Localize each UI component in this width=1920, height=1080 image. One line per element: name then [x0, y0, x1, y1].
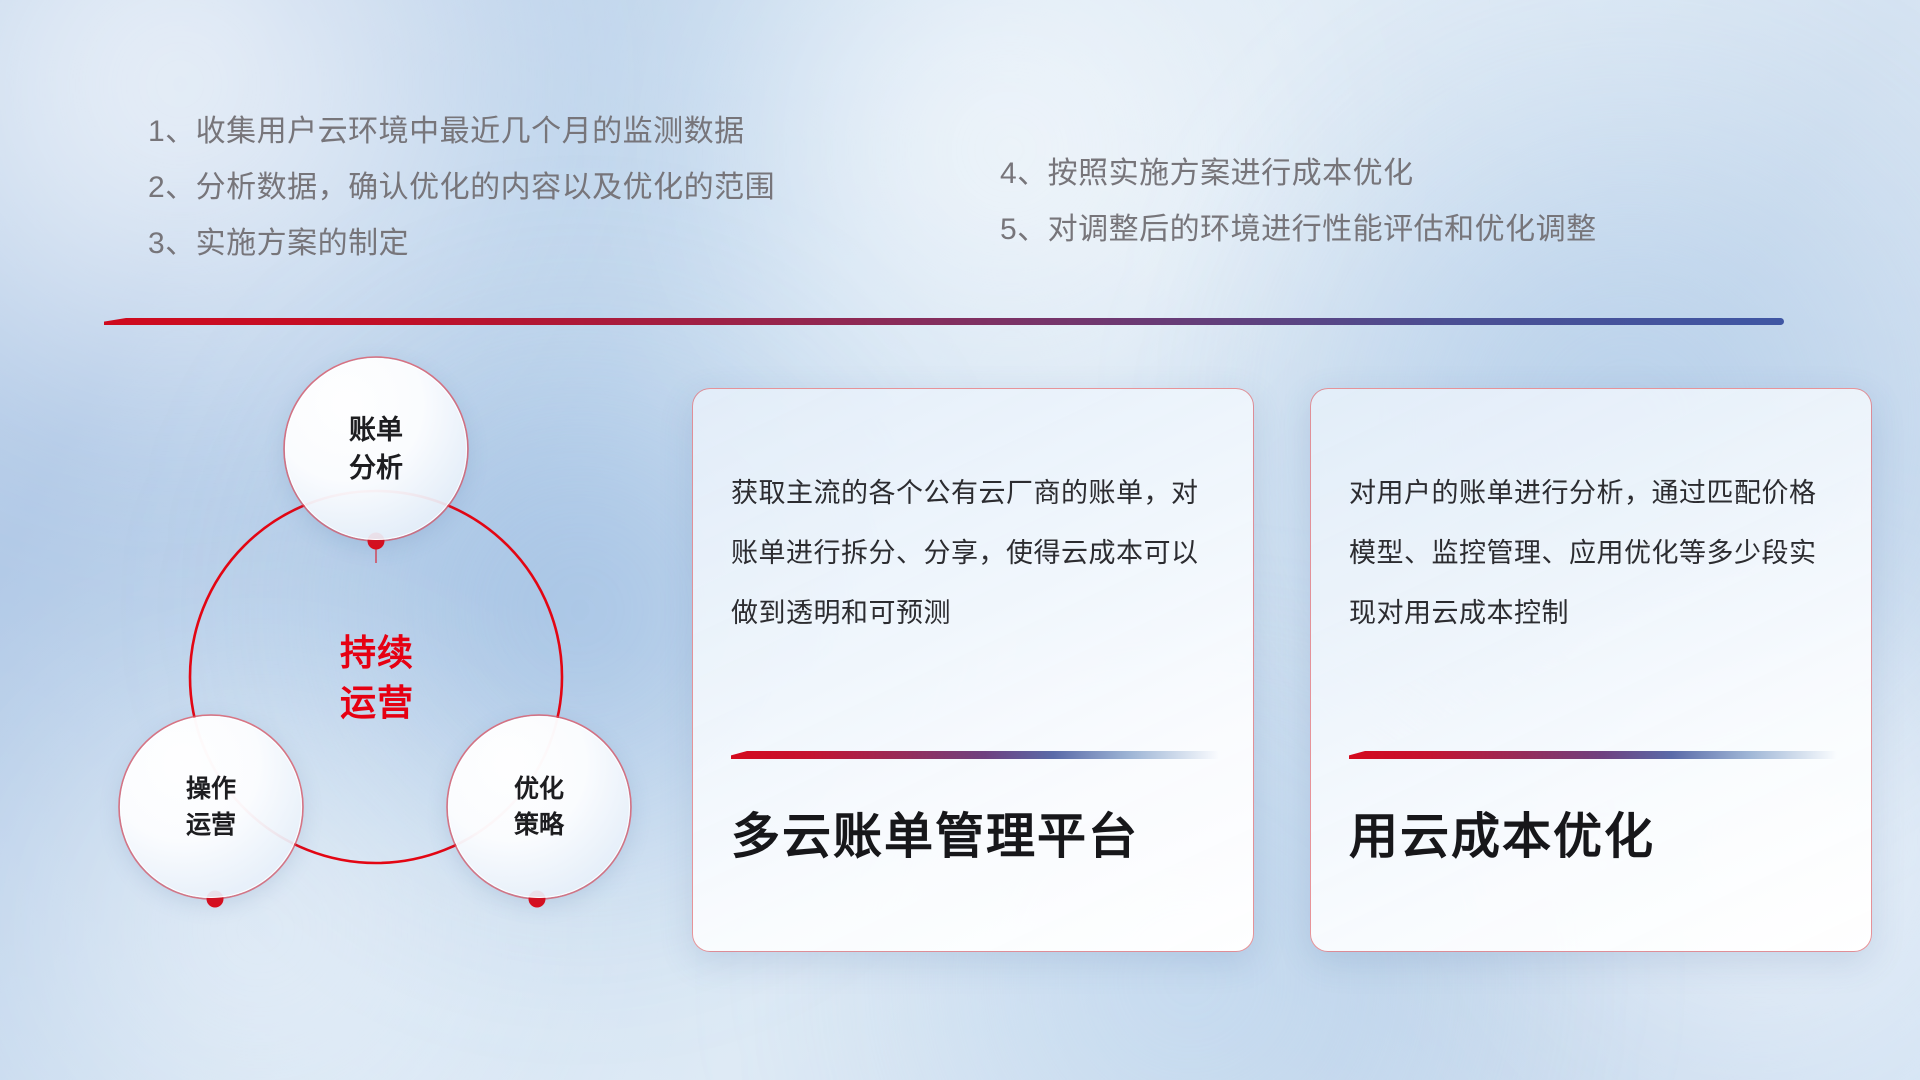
steps-column-left: 1、收集用户云环境中最近几个月的监测数据 2、分析数据，确认优化的内容以及优化的…	[148, 104, 775, 272]
diagram-bubble-bill-analysis[interactable]: 账单 分析	[285, 358, 467, 540]
feature-card-multi-cloud-billing[interactable]: 获取主流的各个公有云厂商的账单，对账单进行拆分、分享，使得云成本可以做到透明和可…	[692, 388, 1254, 952]
bubble-label-line2: 分析	[349, 449, 403, 487]
continuous-operation-diagram: 账单 分析 操作 运营 优化 策略 持续 运营	[96, 352, 646, 952]
step-item-2: 2、分析数据，确认优化的内容以及优化的范围	[148, 160, 775, 216]
center-label-line1: 持续	[340, 628, 414, 678]
card-title: 多云账单管理平台	[731, 797, 1233, 868]
step-item-5: 5、对调整后的环境进行性能评估和优化调整	[1000, 202, 1597, 258]
card-divider	[731, 751, 1219, 759]
bubble-label-line2: 运营	[186, 807, 236, 843]
bubble-label-line1: 优化	[514, 771, 564, 807]
bubble-label-line1: 账单	[349, 411, 403, 449]
diagram-bubble-optimization-strategy[interactable]: 优化 策略	[448, 716, 630, 898]
card-divider	[1349, 751, 1837, 759]
card-title: 用云成本优化	[1349, 797, 1851, 868]
steps-column-right: 4、按照实施方案进行成本优化 5、对调整后的环境进行性能评估和优化调整	[1000, 146, 1597, 258]
section-divider-rule	[104, 318, 1784, 325]
card-body-text: 对用户的账单进行分析，通过匹配价格模型、监控管理、应用优化等多少段实现对用云成本…	[1349, 463, 1837, 643]
card-body-text: 获取主流的各个公有云厂商的账单，对账单进行拆分、分享，使得云成本可以做到透明和可…	[731, 463, 1219, 643]
center-label-line2: 运营	[340, 678, 414, 728]
step-item-4: 4、按照实施方案进行成本优化	[1000, 146, 1597, 202]
bubble-label-line2: 策略	[514, 807, 564, 843]
feature-card-cloud-cost-optimization[interactable]: 对用户的账单进行分析，通过匹配价格模型、监控管理、应用优化等多少段实现对用云成本…	[1310, 388, 1872, 952]
slide-canvas: 1、收集用户云环境中最近几个月的监测数据 2、分析数据，确认优化的内容以及优化的…	[0, 0, 1920, 1080]
step-item-3: 3、实施方案的制定	[148, 216, 775, 272]
step-item-1: 1、收集用户云环境中最近几个月的监测数据	[148, 104, 775, 160]
bubble-label-line1: 操作	[186, 771, 236, 807]
diagram-center-label: 持续 运营	[263, 614, 491, 742]
diagram-bubble-operation[interactable]: 操作 运营	[120, 716, 302, 898]
